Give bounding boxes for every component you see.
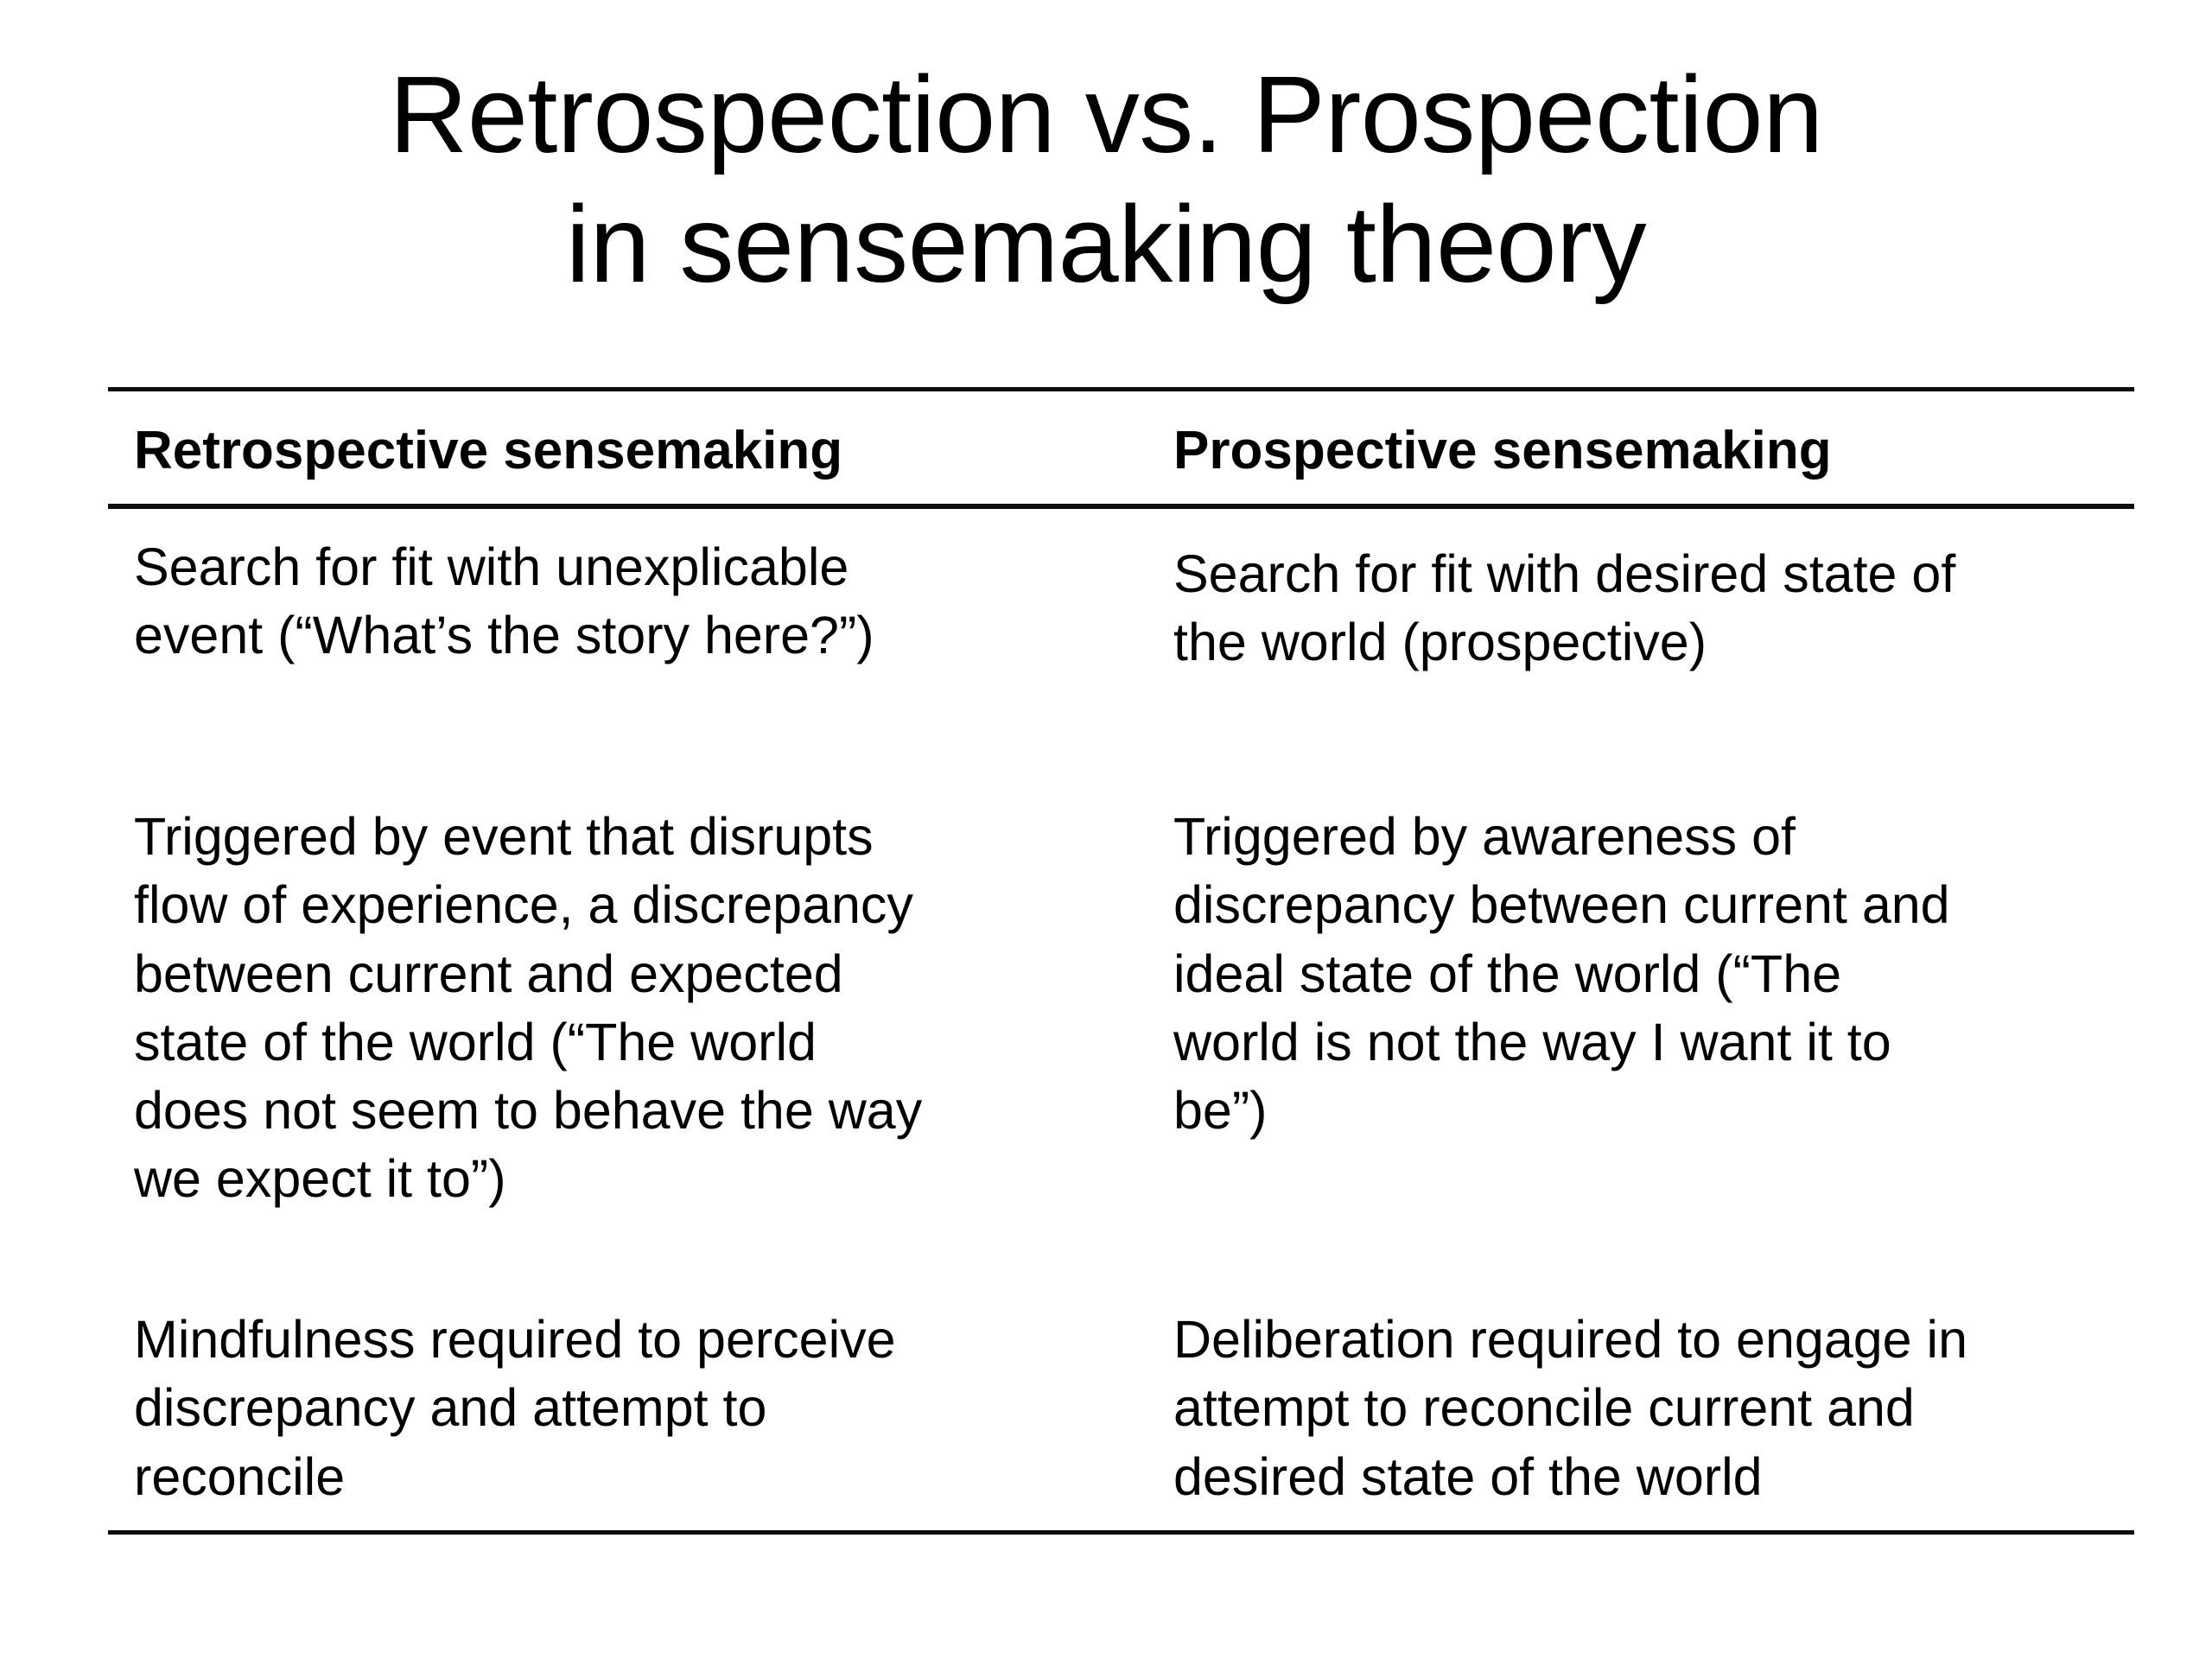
table-cell-row2-retrospective: Triggered by event that disrupts flow of… (108, 794, 1149, 1295)
table-cell-row2-retrospective-text: Triggered by event that disrupts flow of… (134, 803, 1130, 1214)
table-header-row: Retrospective sensemaking Prospective se… (108, 391, 2134, 504)
table-cell-row2-prospective: Triggered by awareness of discrepancy be… (1149, 794, 2134, 1295)
table-row: Triggered by event that disrupts flow of… (108, 794, 2134, 1295)
table-cell-row1-retrospective-text: Search for fit with unexplicable event (… (134, 533, 1130, 671)
column-header-prospective-label: Prospective sensemaking (1173, 424, 2126, 478)
column-header-retrospective-label: Retrospective sensemaking (134, 424, 1130, 478)
table-cell-row3-prospective: Deliberation required to engage in attem… (1149, 1295, 2134, 1530)
table-row: Mindfulness required to perceive discrep… (108, 1295, 2134, 1530)
table-cell-row1-prospective: Search for fit with desired state of the… (1149, 509, 2134, 794)
column-header-prospective: Prospective sensemaking (1149, 391, 2134, 504)
table-cell-row1-prospective-text: Search for fit with desired state of the… (1173, 540, 2126, 677)
slide-title: Retrospection vs. Prospection in sensema… (0, 50, 2212, 309)
slide-canvas: Retrospection vs. Prospection in sensema… (0, 0, 2212, 1659)
table-row: Search for fit with unexplicable event (… (108, 509, 2134, 794)
table-cell-row3-retrospective-text: Mindfulness required to perceive discrep… (134, 1306, 1130, 1511)
comparison-table: Retrospective sensemaking Prospective se… (108, 387, 2134, 1535)
title-line-2: in sensemaking theory (0, 180, 2212, 309)
table-cell-row2-prospective-text: Triggered by awareness of discrepancy be… (1173, 803, 2126, 1145)
table-rule-bottom (108, 1530, 2134, 1535)
table-cell-row3-retrospective: Mindfulness required to perceive discrep… (108, 1295, 1149, 1530)
table-cell-row3-prospective-text: Deliberation required to engage in attem… (1173, 1306, 2126, 1511)
column-header-retrospective: Retrospective sensemaking (108, 391, 1149, 504)
table-cell-row1-retrospective: Search for fit with unexplicable event (… (108, 509, 1149, 794)
title-line-1: Retrospection vs. Prospection (0, 50, 2212, 180)
